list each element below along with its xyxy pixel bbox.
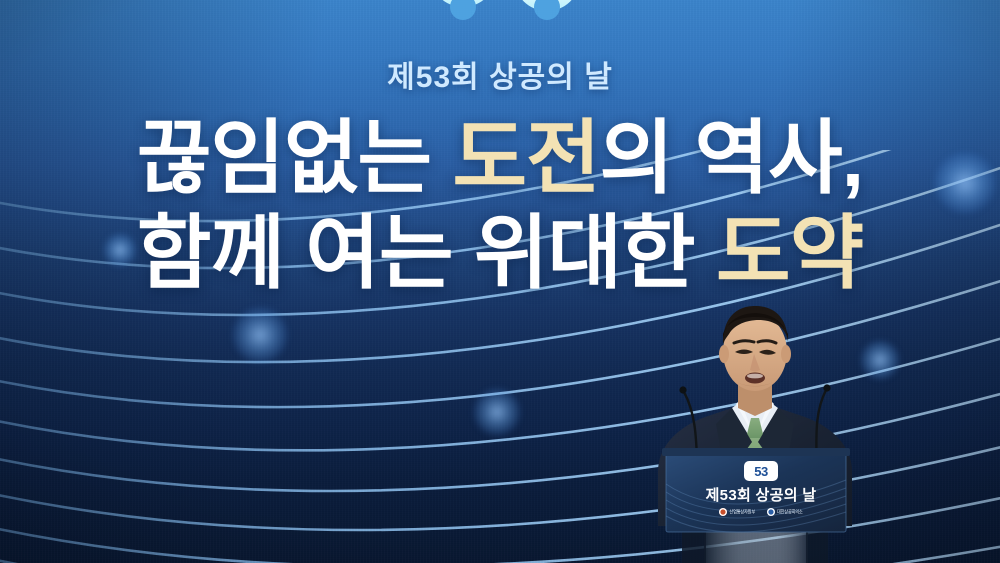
headline-line1-plain: 끊임없는 — [137, 114, 453, 204]
headline-line1-tail: 의 역사, — [600, 114, 864, 204]
screen-subtitle: 제53회 상공의 날 — [0, 52, 1000, 96]
screen-headline: 끊임없는 도전의 역사, 함께 여는 위대한 도약 — [0, 120, 1000, 295]
headline-line2-accent: 도약 — [716, 209, 863, 299]
headline-line2-plain: 함께 여는 위대한 — [137, 209, 716, 299]
logo-53-mark — [400, 0, 600, 44]
podium — [648, 440, 864, 563]
headline-line-1: 끊임없는 도전의 역사, — [0, 120, 1000, 199]
mic-left-head — [679, 386, 686, 393]
headline-line-2: 함께 여는 위대한 도약 — [0, 215, 1000, 294]
mic-right-head — [823, 384, 830, 391]
stage-photo: 제53회 상공의 날 끊임없는 도전의 역사, 함께 여는 위대한 도약 — [0, 0, 1000, 563]
headline-line1-accent: 도전 — [452, 114, 599, 204]
